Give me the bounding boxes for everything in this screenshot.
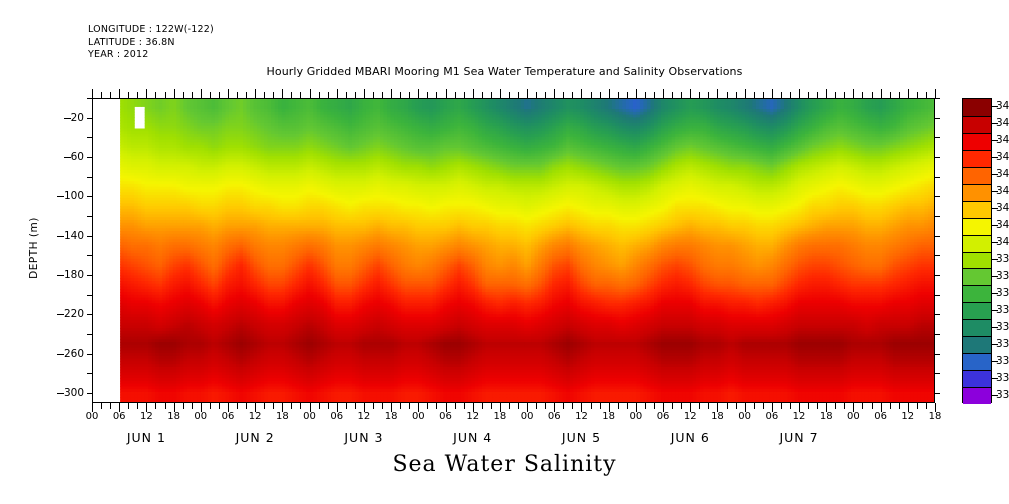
hour-label: 00 [521, 411, 534, 422]
x-tick [781, 403, 782, 409]
colorbar-tick [992, 344, 998, 345]
colorbar-band [963, 116, 991, 133]
x-tick-top [899, 92, 900, 98]
colorbar [962, 98, 992, 403]
x-tick-top [690, 89, 691, 98]
colorbar-tick [992, 191, 998, 192]
colorbar-band [963, 235, 991, 252]
x-tick [618, 403, 619, 409]
x-tick-top [473, 89, 474, 98]
x-tick-top [491, 92, 492, 98]
hour-label: 12 [793, 411, 806, 422]
x-tick [165, 403, 166, 409]
hour-label: 12 [358, 411, 371, 422]
x-tick [672, 403, 673, 409]
x-tick-top [255, 89, 256, 98]
x-tick [600, 403, 601, 409]
x-tick-top [618, 92, 619, 98]
x-tick-top [192, 92, 193, 98]
colorbar-band [963, 336, 991, 353]
x-tick-top [155, 92, 156, 98]
x-tick-top [391, 89, 392, 98]
x-tick [273, 403, 274, 409]
hour-label: 06 [439, 411, 452, 422]
x-tick-top [935, 89, 936, 98]
x-tick-top [183, 92, 184, 98]
x-tick-top [346, 92, 347, 98]
x-tick-top [727, 92, 728, 98]
year-text: YEAR : 2012 [88, 49, 214, 62]
x-tick [754, 403, 755, 409]
x-tick-top [853, 89, 854, 98]
x-tick-top [736, 92, 737, 98]
x-tick [890, 403, 891, 409]
x-tick-top [799, 89, 800, 98]
colorbar-tick [992, 361, 998, 362]
x-tick-top [310, 89, 311, 98]
x-tick [237, 403, 238, 409]
colorbar-tick [992, 310, 998, 311]
x-tick-top [291, 92, 292, 98]
x-tick-top [862, 92, 863, 98]
x-tick-top [645, 92, 646, 98]
x-tick-top [137, 92, 138, 98]
x-tick-top [101, 92, 102, 98]
x-tick-top [663, 89, 664, 98]
x-tick-top [881, 89, 882, 98]
x-tick [926, 403, 927, 409]
x-tick [844, 403, 845, 409]
hour-label: 12 [575, 411, 588, 422]
hour-label: 18 [820, 411, 833, 422]
colorbar-separator [963, 218, 991, 219]
x-tick [455, 403, 456, 409]
x-tick [128, 403, 129, 409]
x-tick [536, 403, 537, 409]
y-tick-label: 260 [64, 348, 84, 360]
colorbar-band [963, 387, 991, 404]
hour-label: 00 [194, 411, 207, 422]
x-tick-top [228, 89, 229, 98]
colorbar-tick [992, 208, 998, 209]
colorbar-separator [963, 235, 991, 236]
x-tick [400, 403, 401, 409]
y-tick-label: 100 [64, 190, 84, 202]
colorbar-separator [963, 268, 991, 269]
hour-label: 12 [684, 411, 697, 422]
x-tick-top [672, 92, 673, 98]
colorbar-tick [992, 378, 998, 379]
x-tick [808, 403, 809, 409]
x-tick [790, 403, 791, 409]
x-tick-top [572, 92, 573, 98]
x-tick-top [917, 92, 918, 98]
x-tick-top [446, 89, 447, 98]
x-tick [482, 403, 483, 409]
x-tick [727, 403, 728, 409]
x-tick-top [201, 89, 202, 98]
hour-label: 06 [765, 411, 778, 422]
x-tick-top [781, 92, 782, 98]
hour-label: 12 [901, 411, 914, 422]
hour-label: 06 [657, 411, 670, 422]
x-tick-top [165, 92, 166, 98]
day-label: JUN 4 [453, 430, 492, 445]
hour-label: 00 [303, 411, 316, 422]
x-tick-top [382, 92, 383, 98]
x-tick-top [844, 92, 845, 98]
day-label: JUN 3 [344, 430, 383, 445]
x-tick [545, 403, 546, 409]
colorbar-band [963, 285, 991, 302]
hour-label: 18 [711, 411, 724, 422]
x-tick-top [364, 89, 365, 98]
x-tick [563, 403, 564, 409]
salinity-heatmap [92, 98, 935, 403]
x-tick-top [835, 92, 836, 98]
colorbar-band [963, 252, 991, 269]
x-tick [817, 403, 818, 409]
x-tick [645, 403, 646, 409]
x-tick [464, 403, 465, 409]
x-tick-top [908, 89, 909, 98]
y-axis-label: DEPTH (m) [28, 217, 40, 279]
colorbar-band [963, 319, 991, 336]
x-tick [763, 403, 764, 409]
x-tick-top [210, 92, 211, 98]
colorbar-tick [992, 140, 998, 141]
x-tick-top [926, 92, 927, 98]
hour-label: 18 [602, 411, 615, 422]
x-tick [264, 403, 265, 409]
y-tick-label: 140 [64, 230, 84, 242]
x-tick-top [636, 89, 637, 98]
colorbar-separator [963, 387, 991, 388]
x-tick [518, 403, 519, 409]
x-tick [572, 403, 573, 409]
colorbar-band [963, 201, 991, 218]
colorbar-separator [963, 184, 991, 185]
colorbar-separator [963, 319, 991, 320]
hour-label: 18 [167, 411, 180, 422]
hour-label: 12 [140, 411, 153, 422]
x-tick [591, 403, 592, 409]
colorbar-band [963, 218, 991, 235]
x-tick [373, 403, 374, 409]
hour-label: 12 [466, 411, 479, 422]
x-tick-top [300, 92, 301, 98]
colorbar-band [963, 268, 991, 285]
colorbar-separator [963, 370, 991, 371]
colorbar-separator [963, 201, 991, 202]
x-tick [699, 403, 700, 409]
x-tick [427, 403, 428, 409]
day-label: JUN 7 [779, 430, 818, 445]
x-tick-top [373, 92, 374, 98]
metadata-block: LONGITUDE : 122W(-122) LATITUDE : 36.8N … [88, 24, 214, 62]
x-tick [382, 403, 383, 409]
colorbar-separator [963, 353, 991, 354]
x-tick-top [219, 92, 220, 98]
x-tick-top [509, 92, 510, 98]
x-tick [300, 403, 301, 409]
x-tick-top [536, 92, 537, 98]
x-tick-top [708, 92, 709, 98]
x-tick [155, 403, 156, 409]
x-tick [654, 403, 655, 409]
x-tick-top [654, 92, 655, 98]
colorbar-tick [992, 242, 998, 243]
x-tick-top [699, 92, 700, 98]
hour-label: 00 [86, 411, 99, 422]
x-tick-top [872, 92, 873, 98]
x-tick-top [146, 89, 147, 98]
colorbar-separator [963, 336, 991, 337]
colorbar-tick [992, 259, 998, 260]
x-tick-top [273, 92, 274, 98]
x-tick-top [527, 89, 528, 98]
x-tick [835, 403, 836, 409]
y-tick-label: 60 [71, 151, 84, 163]
x-tick [355, 403, 356, 409]
hour-label: 18 [494, 411, 507, 422]
colorbar-band [963, 353, 991, 370]
colorbar-tick [992, 123, 998, 124]
hour-label: 06 [330, 411, 343, 422]
plot-area: DEPTH (m) 2060100140180220260300 0006121… [92, 98, 935, 403]
x-tick-top [237, 92, 238, 98]
x-tick-top [282, 89, 283, 98]
colorbar-band [963, 302, 991, 319]
x-tick-top [609, 89, 610, 98]
colorbar-band [963, 133, 991, 150]
x-tick [899, 403, 900, 409]
x-tick-top [745, 89, 746, 98]
colorbar-band [963, 150, 991, 167]
hour-label: 12 [249, 411, 262, 422]
x-tick-top [581, 89, 582, 98]
x-tick-top [763, 92, 764, 98]
x-tick [708, 403, 709, 409]
x-tick [346, 403, 347, 409]
x-tick-top [627, 92, 628, 98]
x-tick-top [808, 92, 809, 98]
chart-title: Hourly Gridded MBARI Mooring M1 Sea Wate… [0, 65, 1009, 78]
x-tick-top [554, 89, 555, 98]
x-tick [219, 403, 220, 409]
x-tick-top [518, 92, 519, 98]
day-label: JUN 2 [236, 430, 275, 445]
chart-caption: Sea Water Salinity [0, 452, 1009, 477]
hour-label: 00 [738, 411, 751, 422]
hour-label: 18 [385, 411, 398, 422]
x-tick-top [464, 92, 465, 98]
x-tick [872, 403, 873, 409]
x-tick-top [110, 92, 111, 98]
x-tick [183, 403, 184, 409]
colorbar-band [963, 167, 991, 184]
x-tick [137, 403, 138, 409]
x-tick [627, 403, 628, 409]
colorbar-tick [992, 106, 998, 107]
x-tick-top [455, 92, 456, 98]
x-tick-top [355, 92, 356, 98]
x-tick [192, 403, 193, 409]
hour-label: 06 [874, 411, 887, 422]
colorbar-tick [992, 157, 998, 158]
x-tick [491, 403, 492, 409]
day-label: JUN 1 [127, 430, 166, 445]
x-tick-top [436, 92, 437, 98]
colorbar-separator [963, 167, 991, 168]
longitude-text: LONGITUDE : 122W(-122) [88, 24, 214, 37]
colorbar-separator [963, 252, 991, 253]
x-tick [328, 403, 329, 409]
day-label: JUN 5 [562, 430, 601, 445]
colorbar-separator [963, 116, 991, 117]
y-tick-label: 180 [64, 269, 84, 281]
colorbar-tick [992, 276, 998, 277]
colorbar-tick [992, 293, 998, 294]
x-tick [736, 403, 737, 409]
x-tick-top [681, 92, 682, 98]
latitude-text: LATITUDE : 36.8N [88, 37, 214, 50]
day-label: JUN 6 [671, 430, 710, 445]
y-tick-label: 300 [64, 387, 84, 399]
x-tick-top [427, 92, 428, 98]
x-tick [291, 403, 292, 409]
x-tick-top [328, 92, 329, 98]
y-tick-label: 20 [71, 112, 84, 124]
colorbar-band [963, 184, 991, 201]
x-tick-top [817, 92, 818, 98]
x-tick-top [319, 92, 320, 98]
x-tick-top [600, 92, 601, 98]
x-tick [210, 403, 211, 409]
x-tick [681, 403, 682, 409]
x-tick [409, 403, 410, 409]
hour-label: 00 [412, 411, 425, 422]
x-tick-top [174, 89, 175, 98]
hour-label: 06 [113, 411, 126, 422]
x-tick [436, 403, 437, 409]
hour-label: 00 [847, 411, 860, 422]
x-tick-top [337, 89, 338, 98]
x-tick-top [128, 92, 129, 98]
colorbar-tick [992, 225, 998, 226]
x-tick-top [92, 89, 93, 98]
x-tick [246, 403, 247, 409]
colorbar-separator [963, 285, 991, 286]
x-tick-top [790, 92, 791, 98]
x-tick-top [246, 92, 247, 98]
x-tick-top [482, 92, 483, 98]
colorbar-separator [963, 150, 991, 151]
x-tick [862, 403, 863, 409]
x-tick-top [826, 89, 827, 98]
x-tick [101, 403, 102, 409]
x-tick-top [563, 92, 564, 98]
x-tick-top [772, 89, 773, 98]
hour-label: 06 [222, 411, 235, 422]
x-tick-top [119, 89, 120, 98]
x-tick [509, 403, 510, 409]
x-tick [110, 403, 111, 409]
hour-label: 18 [276, 411, 289, 422]
colorbar-band [963, 370, 991, 387]
x-tick-top [754, 92, 755, 98]
x-tick-top [409, 92, 410, 98]
colorbar-tick [992, 327, 998, 328]
x-tick-top [500, 89, 501, 98]
colorbar-separator [963, 302, 991, 303]
x-tick-top [717, 89, 718, 98]
x-tick [319, 403, 320, 409]
x-tick-top [264, 92, 265, 98]
colorbar-band [963, 99, 991, 116]
colorbar-tick [992, 174, 998, 175]
x-tick-top [400, 92, 401, 98]
colorbar-tick [992, 395, 998, 396]
x-tick [917, 403, 918, 409]
hour-label: 06 [548, 411, 561, 422]
x-tick-top [591, 92, 592, 98]
hour-label: 00 [629, 411, 642, 422]
x-tick-top [418, 89, 419, 98]
x-tick-top [890, 92, 891, 98]
colorbar-separator [963, 133, 991, 134]
y-tick-label: 220 [64, 308, 84, 320]
hour-label: 18 [929, 411, 942, 422]
x-tick-top [545, 92, 546, 98]
